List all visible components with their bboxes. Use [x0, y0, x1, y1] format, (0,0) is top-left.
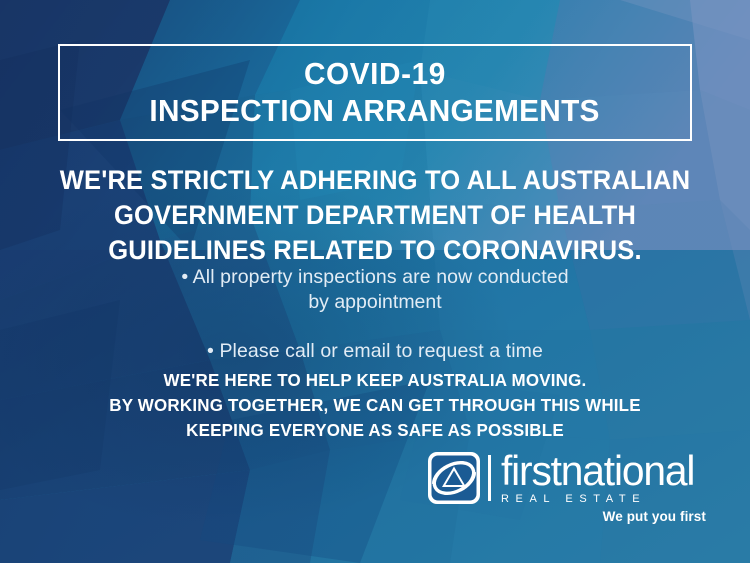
headline-block: WE'RE STRICTLY ADHERING TO ALL AUSTRALIA… [0, 163, 750, 269]
logo-brand-name: firstnational [501, 452, 694, 491]
first-national-globe-icon [428, 452, 480, 504]
logo-wordmark: firstnational REAL ESTATE [501, 452, 700, 505]
logo-row: firstnational REAL ESTATE [428, 452, 700, 505]
list-item-continuation: by appointment [0, 290, 750, 315]
headline-line-3: GUIDELINES RELATED TO CORONAVIRUS. [13, 233, 737, 268]
bullet-list: • All property inspections are now condu… [0, 265, 750, 364]
page-title-line-2: INSPECTION ARRANGEMENTS [150, 93, 600, 129]
closing-statement: WE'RE HERE TO HELP KEEP AUSTRALIA MOVING… [0, 368, 750, 443]
headline-line-2: GOVERNMENT DEPARTMENT OF HEALTH [13, 198, 737, 233]
brand-logo: firstnational REAL ESTATE We put you fir… [428, 452, 708, 532]
list-item: • Please call or email to request a time [0, 339, 750, 364]
closing-line-2: BY WORKING TOGETHER, WE CAN GET THROUGH … [11, 393, 739, 418]
closing-line-1: WE'RE HERE TO HELP KEEP AUSTRALIA MOVING… [11, 368, 739, 393]
list-item: • All property inspections are now condu… [0, 265, 750, 290]
closing-line-3: KEEPING EVERYONE AS SAFE AS POSSIBLE [11, 418, 739, 443]
poster-content: COVID-19 INSPECTION ARRANGEMENTS WE'RE S… [0, 0, 750, 563]
covid-inspection-poster: COVID-19 INSPECTION ARRANGEMENTS WE'RE S… [0, 0, 750, 563]
logo-tagline: We put you first [603, 509, 706, 524]
logo-divider [488, 455, 491, 501]
headline-line-1: WE'RE STRICTLY ADHERING TO ALL AUSTRALIA… [13, 163, 737, 198]
logo-brand-subtitle: REAL ESTATE [501, 494, 700, 505]
title-frame: COVID-19 INSPECTION ARRANGEMENTS [58, 44, 692, 141]
page-title-line-1: COVID-19 [304, 56, 446, 92]
